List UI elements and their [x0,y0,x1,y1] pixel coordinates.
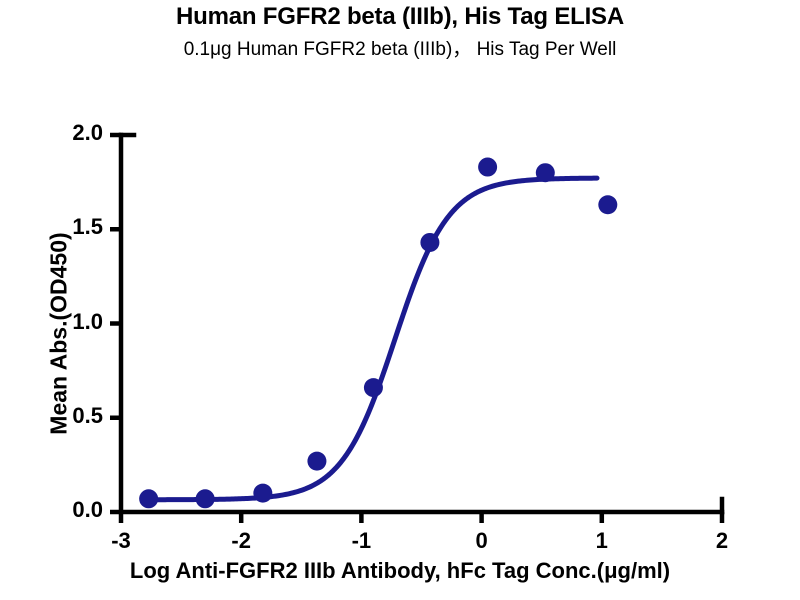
y-tick-label: 1.0 [33,309,103,335]
plot-svg [0,0,800,600]
data-point [196,489,215,508]
y-tick-label: 0.5 [33,403,103,429]
x-tick-label: -1 [339,528,383,554]
data-point [364,378,383,397]
x-tick-label: 0 [460,528,504,554]
y-tick-label: 0.0 [33,497,103,523]
x-axis-title: Log Anti-FGFR2 IIIb Antibody, hFc Tag Co… [40,558,760,584]
x-tick-label: 1 [580,528,624,554]
x-tick-label: -2 [219,528,263,554]
data-point [139,489,158,508]
axes [110,135,722,523]
data-point [307,452,326,471]
y-tick-label: 2.0 [33,120,103,146]
x-tick-label: 2 [700,528,744,554]
data-point [536,163,555,182]
data-point [253,484,272,503]
data-points [139,158,617,509]
data-point [478,158,497,177]
elisa-chart-figure: Human FGFR2 beta (IIIb), His Tag ELISA 0… [0,0,800,600]
data-point [598,195,617,214]
plot-area: Mean Abs.(OD450) Log Anti-FGFR2 IIIb Ant… [0,0,800,600]
fit-curve [143,178,597,500]
x-tick-label: -3 [99,528,143,554]
data-point [420,233,439,252]
y-tick-label: 1.5 [33,214,103,240]
